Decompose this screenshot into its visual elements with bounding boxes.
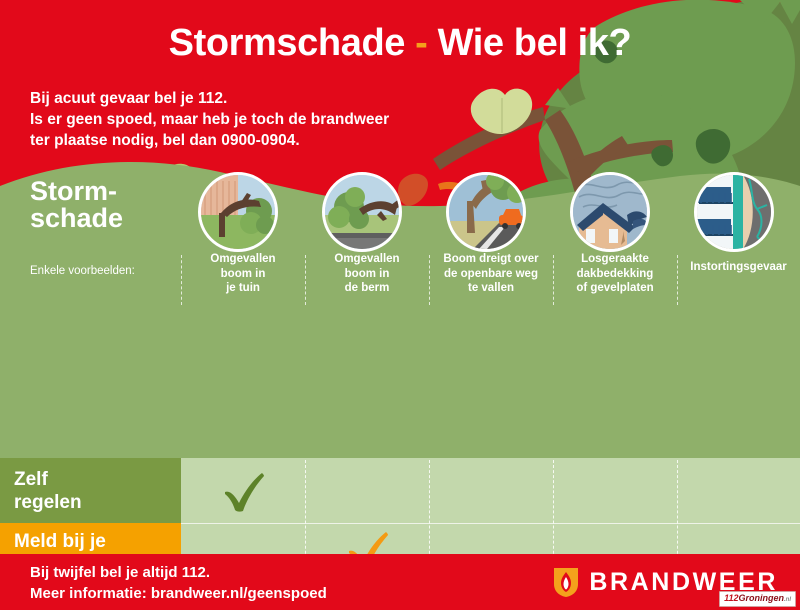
title-dash: - (415, 22, 427, 64)
column-label-2-line3: de berm (305, 281, 429, 296)
row-label-zelf-regelen-line1: Zelf (14, 468, 167, 491)
infographic-poster: Stormschade - Wie bel ik? Bij acuut geva… (0, 0, 800, 610)
column-label-3: Boom dreigt over de openbare weg te vall… (429, 252, 553, 296)
row-label-zelf-regelen-line2: regelen (14, 491, 167, 514)
column-label-3-line3: te vallen (429, 281, 553, 296)
watermark-112groningen: 112Groningen.nl (719, 591, 796, 607)
side-heading-line1: Storm- (30, 178, 123, 205)
collapsing-building-icon (694, 172, 774, 252)
fallen-tree-verge-icon (322, 172, 402, 252)
column-label-2-line1: Omgevallen (305, 252, 429, 267)
column-label-2-line2: boom in (305, 267, 429, 282)
column-label-3-line1: Boom dreigt over (429, 252, 553, 267)
watermark-name: Groningen (739, 593, 785, 603)
title-part2: Wie bel ik? (438, 22, 632, 64)
row-label-meld-gemeente-line1: Meld bij je (14, 530, 167, 553)
page-title: Stormschade - Wie bel ik? (0, 22, 800, 65)
fallen-tree-garden-icon (198, 172, 278, 252)
column-label-4: Losgeraakte dakbedekking of gevelplaten (553, 252, 677, 296)
column-label-5: Instortingsgevaar (677, 260, 800, 275)
watermark-number: 112 (724, 593, 738, 603)
column-label-4-line3: of gevelplaten (553, 281, 677, 296)
row-label-zelf-regelen: Zelf regelen (0, 458, 181, 523)
footer-line-1: Bij twijfel bel je altijd 112. (30, 562, 327, 583)
damaged-roof-icon (570, 172, 650, 252)
column-label-1-line1: Omgevallen (181, 252, 305, 267)
intro-line-3: ter plaatse nodig, bel dan 0900-0904. (30, 130, 389, 151)
row-cells-zelf-regelen (181, 458, 800, 523)
intro-text: Bij acuut gevaar bel je 112. Is er geen … (30, 88, 389, 151)
side-heading: Storm- schade (30, 178, 123, 232)
examples-label: Enkele voorbeelden: (30, 265, 135, 277)
intro-line-2: Is er geen spoed, maar heb je toch de br… (30, 109, 389, 130)
column-label-2: Omgevallen boom in de berm (305, 252, 429, 296)
column-label-5-line1: Instortingsgevaar (677, 260, 800, 275)
column-label-1-line2: boom in (181, 267, 305, 282)
column-label-4-line1: Losgeraakte (553, 252, 677, 267)
checkmark-zelf-regelen-col1 (222, 472, 266, 514)
column-label-3-line2: de openbare weg (429, 267, 553, 282)
watermark-tld: .nl (784, 597, 791, 603)
footer-line-2[interactable]: Meer informatie: brandweer.nl/geenspoed (30, 583, 327, 604)
title-part1: Stormschade (169, 22, 405, 64)
tree-over-road-icon (446, 172, 526, 252)
brandweer-flame-shield-icon (551, 566, 581, 598)
side-heading-line2: schade (30, 205, 123, 232)
storm-damage-table: Storm- schade Enkele voorbeelden: (0, 150, 800, 554)
column-label-1-line3: je tuin (181, 281, 305, 296)
column-label-1: Omgevallen boom in je tuin (181, 252, 305, 296)
footer-text: Bij twijfel bel je altijd 112. Meer info… (30, 562, 327, 604)
intro-line-1: Bij acuut gevaar bel je 112. (30, 88, 389, 109)
column-label-4-line2: dakbedekking (553, 267, 677, 282)
grid-row-separator-1 (181, 523, 800, 524)
footer-bar: Bij twijfel bel je altijd 112. Meer info… (0, 554, 800, 610)
